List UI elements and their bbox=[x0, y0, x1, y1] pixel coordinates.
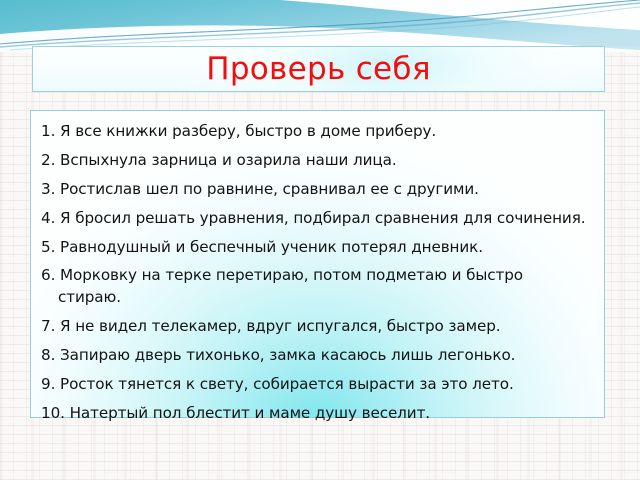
list-item-number: 9. bbox=[41, 375, 55, 393]
header-decoration-band bbox=[0, 0, 640, 52]
list-item-text: Я все книжки разберу, быстро в доме приб… bbox=[60, 122, 436, 140]
list-item-text: Натертый пол блестит и маме душу веселит… bbox=[70, 404, 430, 422]
wave-ribbons-icon bbox=[0, 0, 640, 52]
list-item: 5. Равнодушный и беспечный ученик потеря… bbox=[41, 237, 590, 259]
list-item-text: Морковку на терке перетираю, потом подме… bbox=[58, 266, 523, 306]
list-item-number: 6. bbox=[41, 266, 55, 284]
list-item: 2. Вспыхнула зарница и озарила наши лица… bbox=[41, 150, 590, 172]
list-item: 3. Ростислав шел по равнине, сравнивал е… bbox=[41, 179, 590, 201]
list-item-text: Ростислав шел по равнине, сравнивал ее с… bbox=[60, 180, 479, 198]
list-item: 8. Запираю дверь тихонько, замка касаюсь… bbox=[41, 345, 590, 367]
list-item: 1. Я все книжки разберу, быстро в доме п… bbox=[41, 121, 590, 143]
list-item: 6. Морковку на терке перетираю, потом по… bbox=[41, 265, 590, 309]
list-item-text: Я не видел телекамер, вдруг испугался, б… bbox=[60, 317, 500, 335]
content-panel: 1. Я все книжки разберу, быстро в доме п… bbox=[30, 110, 605, 418]
list-item: 4. Я бросил решать уравнения, подбирал с… bbox=[41, 208, 590, 230]
list-item-text: Запираю дверь тихонько, замка касаюсь ли… bbox=[60, 346, 515, 364]
list-item: 10. Натертый пол блестит и маме душу вес… bbox=[41, 403, 590, 425]
list-item-number: 4. bbox=[41, 209, 55, 227]
list-item-text: Равнодушный и беспечный ученик потерял д… bbox=[60, 238, 483, 256]
list-item-number: 1. bbox=[41, 122, 55, 140]
list-item: 7. Я не видел телекамер, вдруг испугался… bbox=[41, 316, 590, 338]
list-item-number: 2. bbox=[41, 151, 55, 169]
list-item-text: Я бросил решать уравнения, подбирал срав… bbox=[60, 209, 585, 227]
list-item-number: 7. bbox=[41, 317, 55, 335]
list-item-text: Вспыхнула зарница и озарила наши лица. bbox=[60, 151, 397, 169]
slide: Проверь себя 1. Я все книжки разберу, бы… bbox=[0, 0, 640, 480]
list-item-number: 10. bbox=[41, 404, 65, 422]
sentence-list: 1. Я все книжки разберу, быстро в доме п… bbox=[41, 121, 590, 425]
list-item-text: Росток тянется к свету, собирается вырас… bbox=[60, 375, 514, 393]
list-item-number: 3. bbox=[41, 180, 55, 198]
list-item-number: 5. bbox=[41, 238, 55, 256]
list-item: 9. Росток тянется к свету, собирается вы… bbox=[41, 374, 590, 396]
list-item-number: 8. bbox=[41, 346, 55, 364]
page-title: Проверь себя bbox=[206, 54, 431, 85]
slide-title-box: Проверь себя bbox=[32, 46, 605, 92]
